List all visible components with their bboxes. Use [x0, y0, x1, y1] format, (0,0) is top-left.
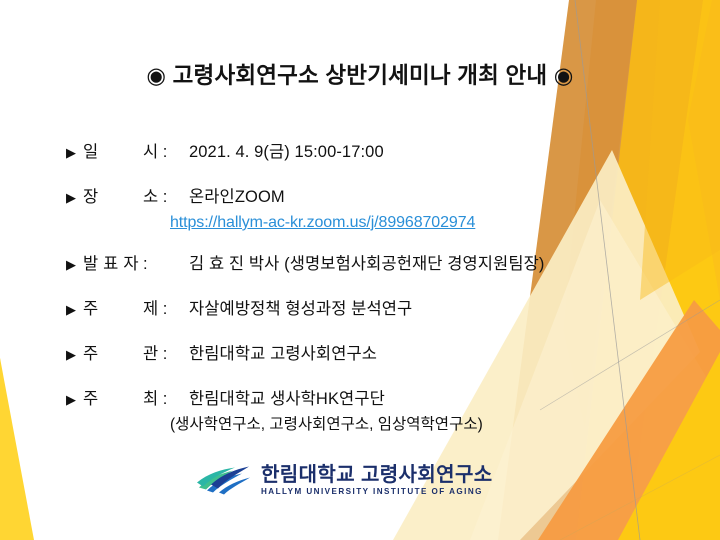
- row-subline: (생사학연구소, 고령사회연구소, 임상역학연구소): [66, 412, 666, 437]
- row-label-primary: 주: [83, 342, 143, 367]
- institute-logo: 한림대학교 고령사회연구소 HALLYM UNIVERSITY INSTITUT…: [196, 464, 493, 498]
- slide-title: ◉ 고령사회연구소 상반기세미나 개최 안내 ◉: [0, 58, 720, 90]
- row-label-secondary: 최 :: [143, 387, 189, 412]
- logo-name-korean: 한림대학교 고령사회연구소: [261, 465, 493, 485]
- list-item: ▶ 주 최 : 한림대학교 생사학HK연구단 (생사학연구소, 고령사회연구소,…: [66, 387, 666, 437]
- row-label-primary: 일: [83, 140, 143, 165]
- decor-gold-sliver: [688, 0, 720, 300]
- bullet-triangle-icon: ▶: [66, 297, 83, 322]
- bullet-triangle-icon: ▶: [66, 185, 83, 210]
- list-item: ▶ 일 시 : 2021. 4. 9(금) 15:00-17:00: [66, 140, 666, 165]
- decor-yellow-corner-wedge: [0, 358, 34, 540]
- row-value: 한림대학교 생사학HK연구단: [189, 387, 385, 412]
- row-label-primary: 장: [83, 185, 143, 210]
- row-label-secondary: 관 :: [143, 342, 189, 367]
- row-subline-text: (생사학연구소, 고령사회연구소, 임상역학연구소): [170, 416, 483, 433]
- row-label-secondary: 소 :: [143, 185, 189, 210]
- row-value: 김 효 진 박사 (생명보험사회공헌재단 경영지원팀장): [189, 252, 545, 277]
- zoom-meeting-link[interactable]: https://hallym-ac-kr.zoom.us/j/899687029…: [170, 214, 475, 231]
- bullet-triangle-icon: ▶: [66, 140, 83, 165]
- list-item: ▶ 주 관 : 한림대학교 고령사회연구소: [66, 342, 666, 367]
- row-label-secondary: 제 :: [143, 297, 189, 322]
- row-label-secondary: 시 :: [143, 140, 189, 165]
- decor-hairline-3: [560, 455, 720, 540]
- row-label-primary: 발 표 자: [83, 252, 143, 277]
- list-item: ▶ 주 제 : 자살예방정책 형성과정 분석연구: [66, 297, 666, 322]
- wave-mark-icon: [196, 464, 254, 498]
- row-value: 온라인ZOOM: [189, 185, 285, 210]
- slide-canvas: ◉ 고령사회연구소 상반기세미나 개최 안내 ◉ ▶ 일 시 : 2021. 4…: [0, 0, 720, 540]
- row-value: 2021. 4. 9(금) 15:00-17:00: [189, 140, 384, 165]
- bullet-triangle-icon: ▶: [66, 252, 83, 277]
- row-value: 자살예방정책 형성과정 분석연구: [189, 297, 412, 322]
- row-label-primary: 주: [83, 297, 143, 322]
- bullet-triangle-icon: ▶: [66, 342, 83, 367]
- decor-yellow-corner-wedge-2: [0, 358, 34, 540]
- list-item: ▶ 발 표 자 : 김 효 진 박사 (생명보험사회공헌재단 경영지원팀장): [66, 252, 666, 277]
- bullet-triangle-icon: ▶: [66, 387, 83, 412]
- row-value: 한림대학교 고령사회연구소: [189, 342, 377, 367]
- row-subline: https://hallym-ac-kr.zoom.us/j/899687029…: [66, 210, 666, 235]
- info-list: ▶ 일 시 : 2021. 4. 9(금) 15:00-17:00 ▶ 장 소 …: [66, 140, 666, 449]
- row-label-primary: 주: [83, 387, 143, 412]
- list-item: ▶ 장 소 : 온라인ZOOM https://hallym-ac-kr.zoo…: [66, 185, 666, 235]
- logo-text-block: 한림대학교 고령사회연구소 HALLYM UNIVERSITY INSTITUT…: [261, 465, 493, 496]
- row-label-secondary: :: [143, 252, 189, 277]
- logo-name-english: HALLYM UNIVERSITY INSTITUTE OF AGING: [261, 488, 493, 496]
